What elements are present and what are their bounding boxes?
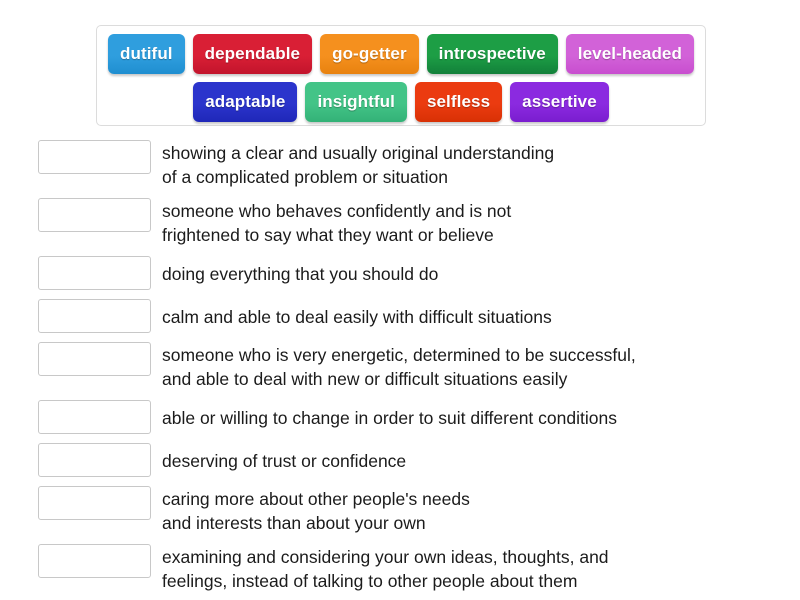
definition-rows-list: showing a clear and usually original und… <box>0 140 800 600</box>
word-bank-row: adaptableinsightfulselflessassertive <box>97 80 705 124</box>
definition-line: feelings, instead of talking to other pe… <box>162 569 782 593</box>
definition-line: someone who is very energetic, determine… <box>162 343 782 367</box>
definition-line: calm and able to deal easily with diffic… <box>162 305 782 329</box>
definition-line: doing everything that you should do <box>162 262 782 286</box>
definition-row: calm and able to deal easily with diffic… <box>0 299 800 333</box>
word-tile[interactable]: go-getter <box>320 34 419 74</box>
word-tile[interactable]: level-headed <box>566 34 694 74</box>
definition-line: and able to deal with new or difficult s… <box>162 367 782 391</box>
definition-line: and interests than about your own <box>162 511 782 535</box>
answer-drop-box[interactable] <box>38 400 151 434</box>
word-tile[interactable]: assertive <box>510 82 609 122</box>
word-tile[interactable]: selfless <box>415 82 502 122</box>
definition-row: deserving of trust or confidence <box>0 443 800 477</box>
answer-drop-box[interactable] <box>38 443 151 477</box>
definition-line: someone who behaves confidently and is n… <box>162 199 782 223</box>
definition-line: of a complicated problem or situation <box>162 165 782 189</box>
definition-row: caring more about other people's needsan… <box>0 486 800 535</box>
word-bank: dutifuldependablego-getterintrospectivel… <box>96 25 706 126</box>
definition-text: doing everything that you should do <box>162 256 782 286</box>
answer-drop-box[interactable] <box>38 299 151 333</box>
definition-row: someone who is very energetic, determine… <box>0 342 800 391</box>
answer-drop-box[interactable] <box>38 544 151 578</box>
definition-line: caring more about other people's needs <box>162 487 782 511</box>
definition-line: frightened to say what they want or beli… <box>162 223 782 247</box>
definition-text: caring more about other people's needsan… <box>162 486 782 535</box>
definition-line: deserving of trust or confidence <box>162 449 782 473</box>
answer-drop-box[interactable] <box>38 486 151 520</box>
definition-row: doing everything that you should do <box>0 256 800 290</box>
definition-text: able or willing to change in order to su… <box>162 400 782 430</box>
word-tile[interactable]: dependable <box>193 34 312 74</box>
definition-text: showing a clear and usually original und… <box>162 140 782 189</box>
activity-stage: dutifuldependablego-getterintrospectivel… <box>0 0 800 600</box>
answer-drop-box[interactable] <box>38 342 151 376</box>
definition-row: showing a clear and usually original und… <box>0 140 800 189</box>
definition-row: examining and considering your own ideas… <box>0 544 800 593</box>
definition-line: able or willing to change in order to su… <box>162 406 782 430</box>
definition-text: deserving of trust or confidence <box>162 443 782 473</box>
definition-row: someone who behaves confidently and is n… <box>0 198 800 247</box>
answer-drop-box[interactable] <box>38 198 151 232</box>
definition-text: calm and able to deal easily with diffic… <box>162 299 782 329</box>
definition-text: examining and considering your own ideas… <box>162 544 782 593</box>
word-tile[interactable]: adaptable <box>193 82 297 122</box>
answer-drop-box[interactable] <box>38 256 151 290</box>
word-tile[interactable]: insightful <box>305 82 406 122</box>
definition-line: showing a clear and usually original und… <box>162 141 782 165</box>
definition-row: able or willing to change in order to su… <box>0 400 800 434</box>
definition-text: someone who behaves confidently and is n… <box>162 198 782 247</box>
definition-text: someone who is very energetic, determine… <box>162 342 782 391</box>
word-bank-row: dutifuldependablego-getterintrospectivel… <box>97 32 705 76</box>
answer-drop-box[interactable] <box>38 140 151 174</box>
word-tile[interactable]: introspective <box>427 34 558 74</box>
word-tile[interactable]: dutiful <box>108 34 185 74</box>
definition-line: examining and considering your own ideas… <box>162 545 782 569</box>
